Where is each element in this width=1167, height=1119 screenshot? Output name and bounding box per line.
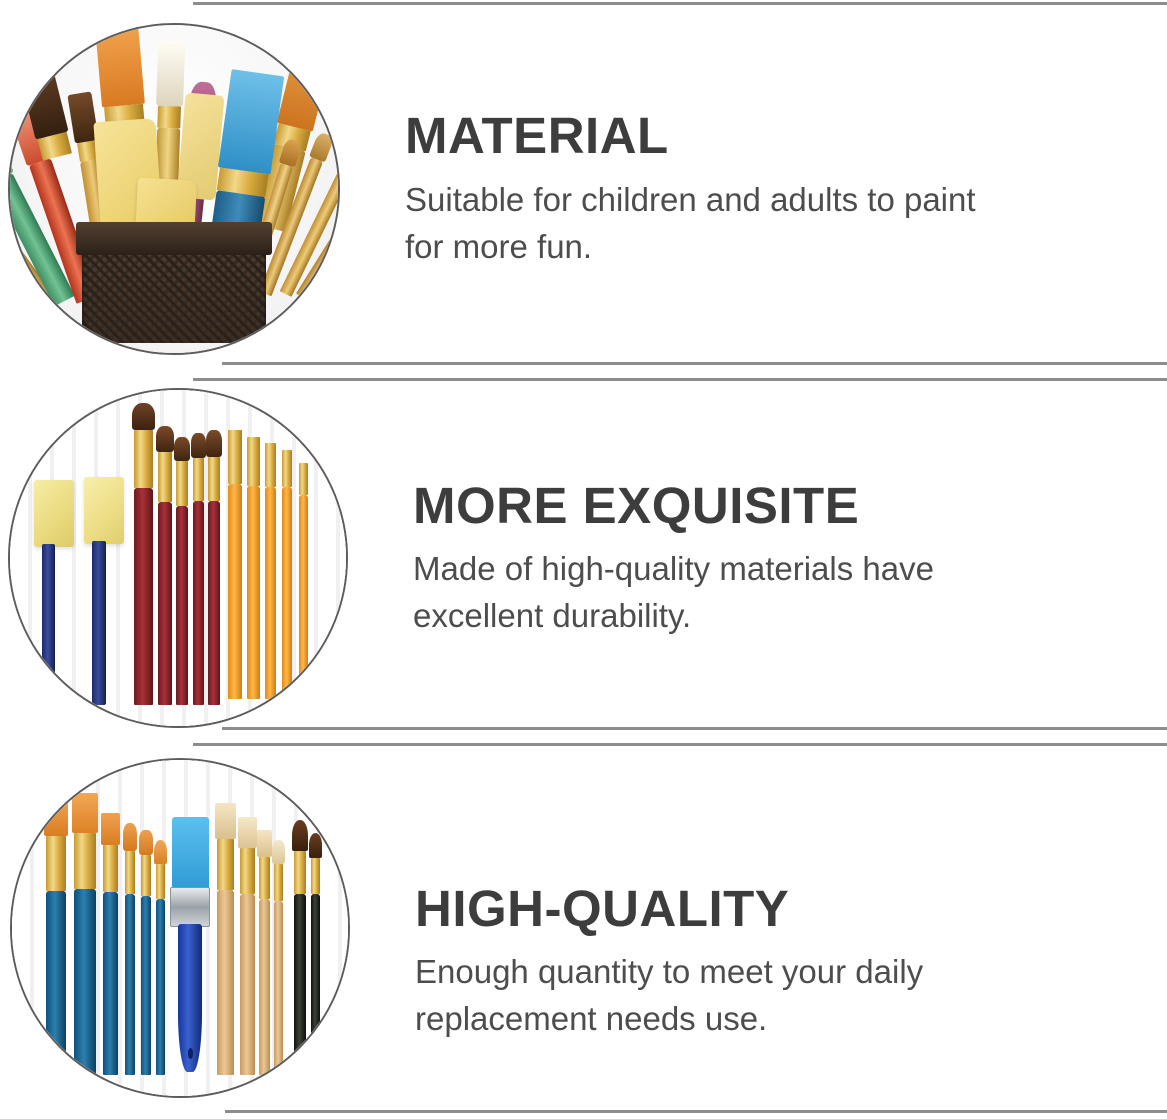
feature-body: Suitable for children and adults to pain… xyxy=(405,177,1015,271)
sponge-and-round-brushes-photo xyxy=(8,388,348,728)
feature-body: Made of high-quality materials have exce… xyxy=(413,546,1023,640)
feature-headline: HIGH-QUALITY xyxy=(415,882,1137,936)
brushes-in-mesh-cup-photo xyxy=(8,23,340,355)
feature-row-more-exquisite: MORE EXQUISITE Made of high-quality mate… xyxy=(0,380,1167,735)
feature-body: Enough quantity to meet your daily repla… xyxy=(415,949,1025,1043)
feature-row-high-quality: HIGH-QUALITY Enough quantity to meet you… xyxy=(0,745,1167,1110)
feature-headline: MATERIAL xyxy=(405,109,1137,163)
assorted-brushes-with-chip-brush-photo xyxy=(10,758,350,1098)
infographic-sheet: MATERIAL Suitable for children and adult… xyxy=(0,0,1167,1119)
feature-text-material: MATERIAL Suitable for children and adult… xyxy=(340,99,1167,270)
feature-row-material: MATERIAL Suitable for children and adult… xyxy=(0,0,1167,370)
feature-text-more-exquisite: MORE EXQUISITE Made of high-quality mate… xyxy=(348,475,1167,640)
feature-headline: MORE EXQUISITE xyxy=(413,479,1137,533)
feature-text-high-quality: HIGH-QUALITY Enough quantity to meet you… xyxy=(350,812,1167,1043)
bottom-rule xyxy=(225,1110,1167,1113)
cup-rim xyxy=(76,222,273,255)
